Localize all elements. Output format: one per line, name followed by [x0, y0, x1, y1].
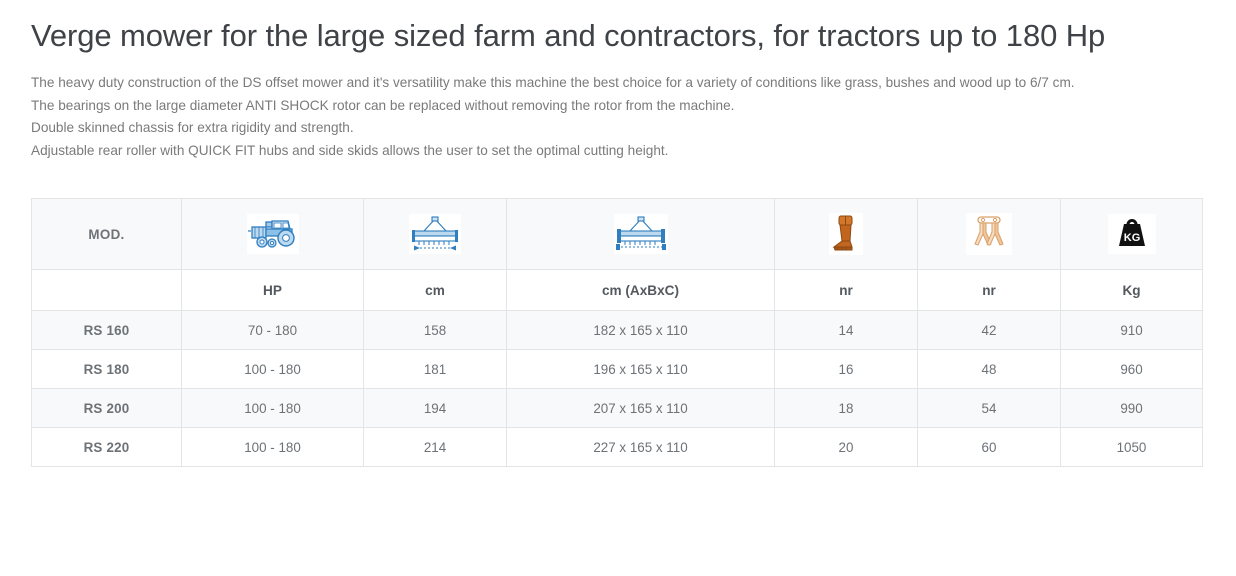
cell-yblades: 60 [918, 428, 1061, 467]
page-title: Verge mower for the large sized farm and… [31, 12, 1161, 60]
cell-yblades: 54 [918, 389, 1061, 428]
unit-weight: Kg [1061, 270, 1203, 311]
cell-hammers: 18 [775, 389, 918, 428]
header-cell-dimensions [507, 199, 775, 270]
intro-line-1: The heavy duty construction of the DS of… [31, 72, 1191, 95]
cell-model: RS 160 [32, 311, 182, 350]
header-cell-tractor [182, 199, 364, 270]
mower-dimensions-icon [614, 214, 668, 254]
cell-yblades: 48 [918, 350, 1061, 389]
weight-kg-icon: KG [1108, 214, 1156, 254]
cell-dimensions: 207 x 165 x 110 [507, 389, 775, 428]
unit-cm: cm [364, 270, 507, 311]
header-cell-y-blades [918, 199, 1061, 270]
cell-weight: 1050 [1061, 428, 1203, 467]
table-unit-row: HP cm cm (AxBxC) nr nr Kg [32, 270, 1203, 311]
cell-hp: 100 - 180 [182, 428, 364, 467]
mower-working-width-icon [409, 214, 461, 254]
unit-hp: HP [182, 270, 364, 311]
cell-hp: 100 - 180 [182, 389, 364, 428]
header-cell-working-width [364, 199, 507, 270]
cell-model: RS 180 [32, 350, 182, 389]
cell-dimensions: 182 x 165 x 110 [507, 311, 775, 350]
cell-hammers: 16 [775, 350, 918, 389]
cell-weight: 910 [1061, 311, 1203, 350]
header-mod-label: MOD. [32, 199, 182, 270]
cell-cm: 214 [364, 428, 507, 467]
cell-yblades: 42 [918, 311, 1061, 350]
table-row: RS 180 100 - 180 181 196 x 165 x 110 16 … [32, 350, 1203, 389]
intro-line-2: The bearings on the large diameter ANTI … [31, 95, 1191, 118]
table-row: RS 160 70 - 180 158 182 x 165 x 110 14 4… [32, 311, 1203, 350]
y-blade-icon [966, 213, 1012, 255]
cell-hammers: 20 [775, 428, 918, 467]
cell-hp: 100 - 180 [182, 350, 364, 389]
header-cell-hammer-flails [775, 199, 918, 270]
svg-text:KG: KG [1123, 232, 1140, 244]
cell-cm: 158 [364, 311, 507, 350]
unit-mod-blank [32, 270, 182, 311]
header-cell-weight: KG [1061, 199, 1203, 270]
cell-weight: 960 [1061, 350, 1203, 389]
cell-model: RS 220 [32, 428, 182, 467]
cell-dimensions: 196 x 165 x 110 [507, 350, 775, 389]
intro-line-3: Double skinned chassis for extra rigidit… [31, 117, 1191, 140]
intro-line-4: Adjustable rear roller with QUICK FIT hu… [31, 140, 1191, 163]
specifications-table: MOD. [31, 198, 1203, 467]
cell-cm: 181 [364, 350, 507, 389]
unit-yblades: nr [918, 270, 1061, 311]
cell-weight: 990 [1061, 389, 1203, 428]
hammer-flail-icon [829, 213, 863, 255]
product-spec-page: Verge mower for the large sized farm and… [0, 12, 1236, 467]
cell-model: RS 200 [32, 389, 182, 428]
table-row: RS 200 100 - 180 194 207 x 165 x 110 18 … [32, 389, 1203, 428]
tractor-icon [247, 214, 299, 254]
unit-dimensions: cm (AxBxC) [507, 270, 775, 311]
cell-hp: 70 - 180 [182, 311, 364, 350]
intro-description: The heavy duty construction of the DS of… [31, 72, 1191, 162]
cell-dimensions: 227 x 165 x 110 [507, 428, 775, 467]
table-row: RS 220 100 - 180 214 227 x 165 x 110 20 … [32, 428, 1203, 467]
unit-hammers: nr [775, 270, 918, 311]
table-header-icon-row: MOD. [32, 199, 1203, 270]
cell-cm: 194 [364, 389, 507, 428]
cell-hammers: 14 [775, 311, 918, 350]
